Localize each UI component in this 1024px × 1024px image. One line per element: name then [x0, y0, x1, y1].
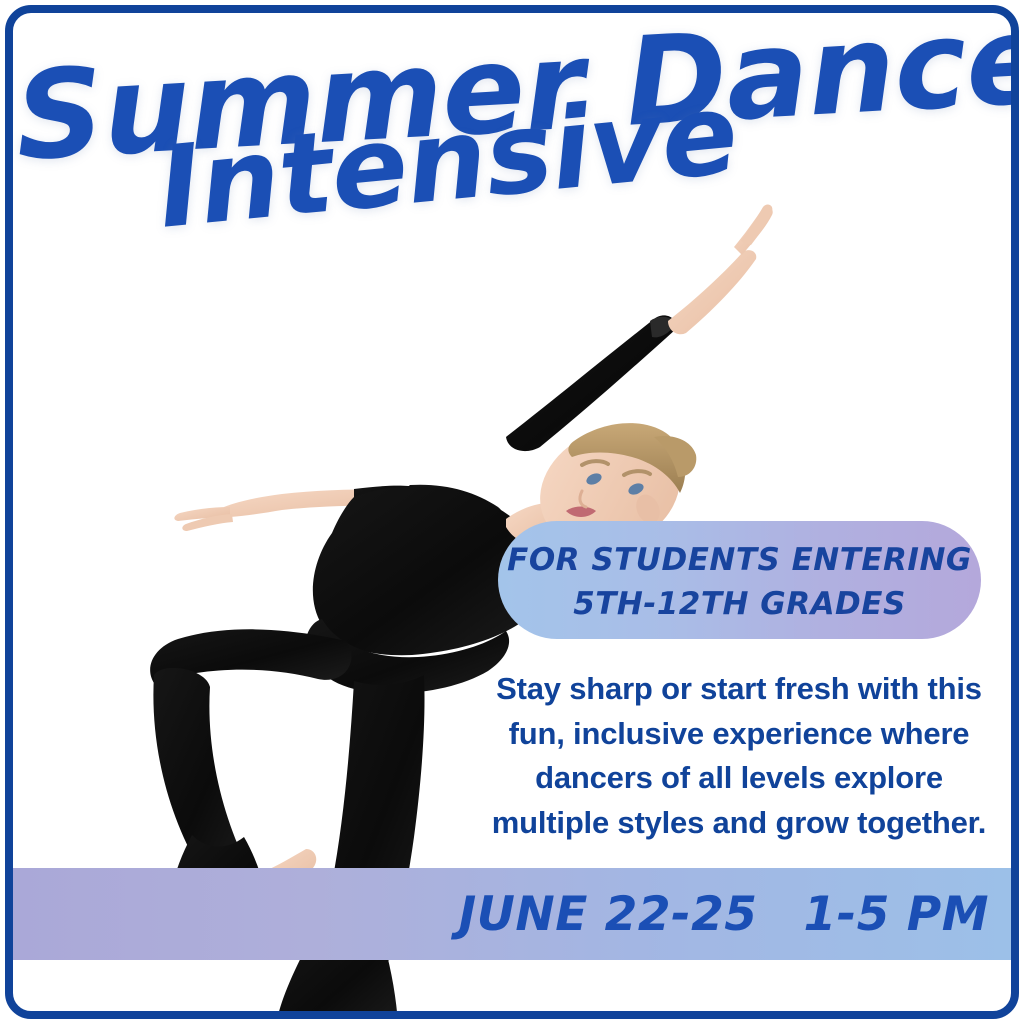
grades-badge-line-1: FOR STUDENTS ENTERING [507, 538, 972, 582]
dancer-right-arm [506, 204, 773, 451]
poster: Summer Dance Intensive [0, 0, 1024, 1024]
dancer-standing-leg [276, 675, 425, 1015]
schedule-banner [9, 868, 1015, 960]
description-line-3: dancers of all levels explore [479, 756, 999, 801]
description-text: Stay sharp or start fresh with this fun,… [479, 667, 999, 846]
description-line-1: Stay sharp or start fresh with this [479, 667, 999, 712]
description-line-4: multiple styles and grow together. [479, 801, 999, 846]
poster-canvas: Summer Dance Intensive [9, 9, 1015, 1015]
grades-badge-line-2: 5TH-12TH GRADES [573, 582, 906, 626]
description-line-2: fun, inclusive experience where [479, 712, 999, 757]
grades-badge: FOR STUDENTS ENTERING 5TH-12TH GRADES [498, 521, 981, 639]
headline-line-1: Summer Dance [12, 9, 1015, 179]
